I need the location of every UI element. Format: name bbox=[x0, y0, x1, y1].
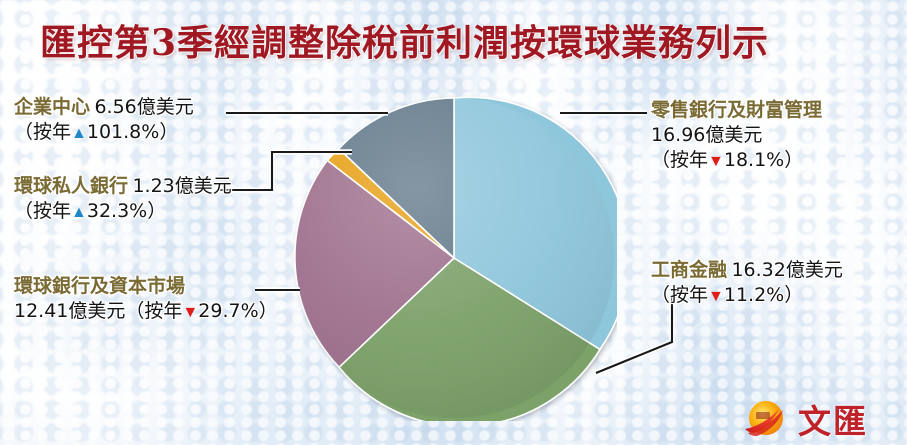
callout-commercial-yoy-prefix: （按年 bbox=[651, 284, 708, 306]
callout-commercial-yoy-suffix: ） bbox=[784, 284, 803, 306]
chart-title: 匯控第3季經調整除稅前利潤按環球業務列示 bbox=[40, 14, 769, 66]
callout-corporate-centre-yoy-prefix: （按年 bbox=[14, 121, 71, 143]
callout-gbm-line2: 12.41億美元（按年▼29.7%） bbox=[14, 299, 278, 324]
callout-corporate-centre-line1: 企業中心 6.56億美元 bbox=[14, 95, 194, 120]
callout-corporate-centre[interactable]: 企業中心 6.56億美元 （按年▲101.8%） bbox=[14, 95, 194, 145]
pie-gloss-overlay bbox=[294, 98, 614, 418]
callout-gbm-category: 環球銀行及資本市場 bbox=[14, 275, 185, 297]
callout-commercial-yoy-value: 11.2% bbox=[724, 284, 784, 306]
callout-gpb-yoy-value: 32.3% bbox=[87, 200, 147, 222]
callout-retail-line3: （按年▼18.1%） bbox=[651, 148, 822, 173]
callout-gbm-yoy-prefix: （按年 bbox=[125, 300, 182, 322]
callout-retail-yoy-suffix: ） bbox=[784, 149, 803, 171]
triangle-down-icon: ▼ bbox=[708, 288, 724, 305]
callout-commercial-value: 16.32億美元 bbox=[731, 259, 842, 281]
callout-gpb[interactable]: 環球私人銀行 1.23億美元 （按年▲32.3%） bbox=[14, 174, 232, 224]
callout-gbm[interactable]: 環球銀行及資本市場 12.41億美元（按年▼29.7%） bbox=[14, 274, 278, 324]
callout-gbm-yoy-suffix: ） bbox=[259, 300, 278, 322]
callout-gbm-line1: 環球銀行及資本市場 bbox=[14, 274, 278, 299]
callout-commercial[interactable]: 工商金融 16.32億美元 （按年▼11.2%） bbox=[651, 258, 843, 308]
callout-commercial-line2: （按年▼11.2%） bbox=[651, 283, 843, 308]
flame-circle-icon bbox=[742, 396, 794, 440]
pie-chart bbox=[291, 95, 617, 421]
callout-retail-yoy-value: 18.1% bbox=[724, 149, 784, 171]
callout-gpb-value: 1.23億美元 bbox=[132, 175, 231, 197]
callout-corporate-centre-line2: （按年▲101.8%） bbox=[14, 120, 194, 145]
title-bar: 匯控第3季經調整除稅前利潤按環球業務列示 bbox=[0, 6, 907, 68]
callout-corporate-centre-value: 6.56億美元 bbox=[94, 96, 193, 118]
triangle-up-icon: ▲ bbox=[71, 204, 87, 221]
callout-retail-value: 16.96億美元 bbox=[651, 124, 762, 146]
triangle-down-icon: ▼ bbox=[182, 304, 198, 321]
callout-gpb-yoy-prefix: （按年 bbox=[14, 200, 71, 222]
triangle-up-icon: ▲ bbox=[71, 125, 87, 142]
callout-retail-line2: 16.96億美元 bbox=[651, 123, 822, 148]
callout-corporate-centre-category: 企業中心 bbox=[14, 96, 90, 118]
callout-retail[interactable]: 零售銀行及財富管理 16.96億美元 （按年▼18.1%） bbox=[651, 98, 822, 173]
pie-chart-svg bbox=[291, 95, 617, 421]
callout-commercial-category: 工商金融 bbox=[651, 259, 727, 281]
callout-gpb-yoy-suffix: ） bbox=[147, 200, 166, 222]
infographic-canvas: 匯控第3季經調整除稅前利潤按環球業務列示 bbox=[0, 0, 907, 445]
triangle-down-icon: ▼ bbox=[708, 153, 724, 170]
publisher-logo-text: 文匯報 bbox=[798, 395, 900, 445]
callout-gbm-yoy-value: 29.7% bbox=[198, 300, 258, 322]
callout-commercial-line1: 工商金融 16.32億美元 bbox=[651, 258, 843, 283]
callout-gbm-value: 12.41億美元 bbox=[14, 300, 125, 322]
publisher-logo[interactable]: 文匯報 bbox=[742, 396, 900, 440]
callout-retail-yoy-prefix: （按年 bbox=[651, 149, 708, 171]
callout-gpb-category: 環球私人銀行 bbox=[14, 175, 128, 197]
callout-retail-line1: 零售銀行及財富管理 bbox=[651, 98, 822, 123]
callout-gpb-line1: 環球私人銀行 1.23億美元 bbox=[14, 174, 232, 199]
callout-retail-category: 零售銀行及財富管理 bbox=[651, 99, 822, 121]
callout-corporate-centre-yoy-suffix: ） bbox=[159, 121, 178, 143]
callout-gpb-line2: （按年▲32.3%） bbox=[14, 199, 232, 224]
callout-corporate-centre-yoy-value: 101.8% bbox=[87, 121, 159, 143]
